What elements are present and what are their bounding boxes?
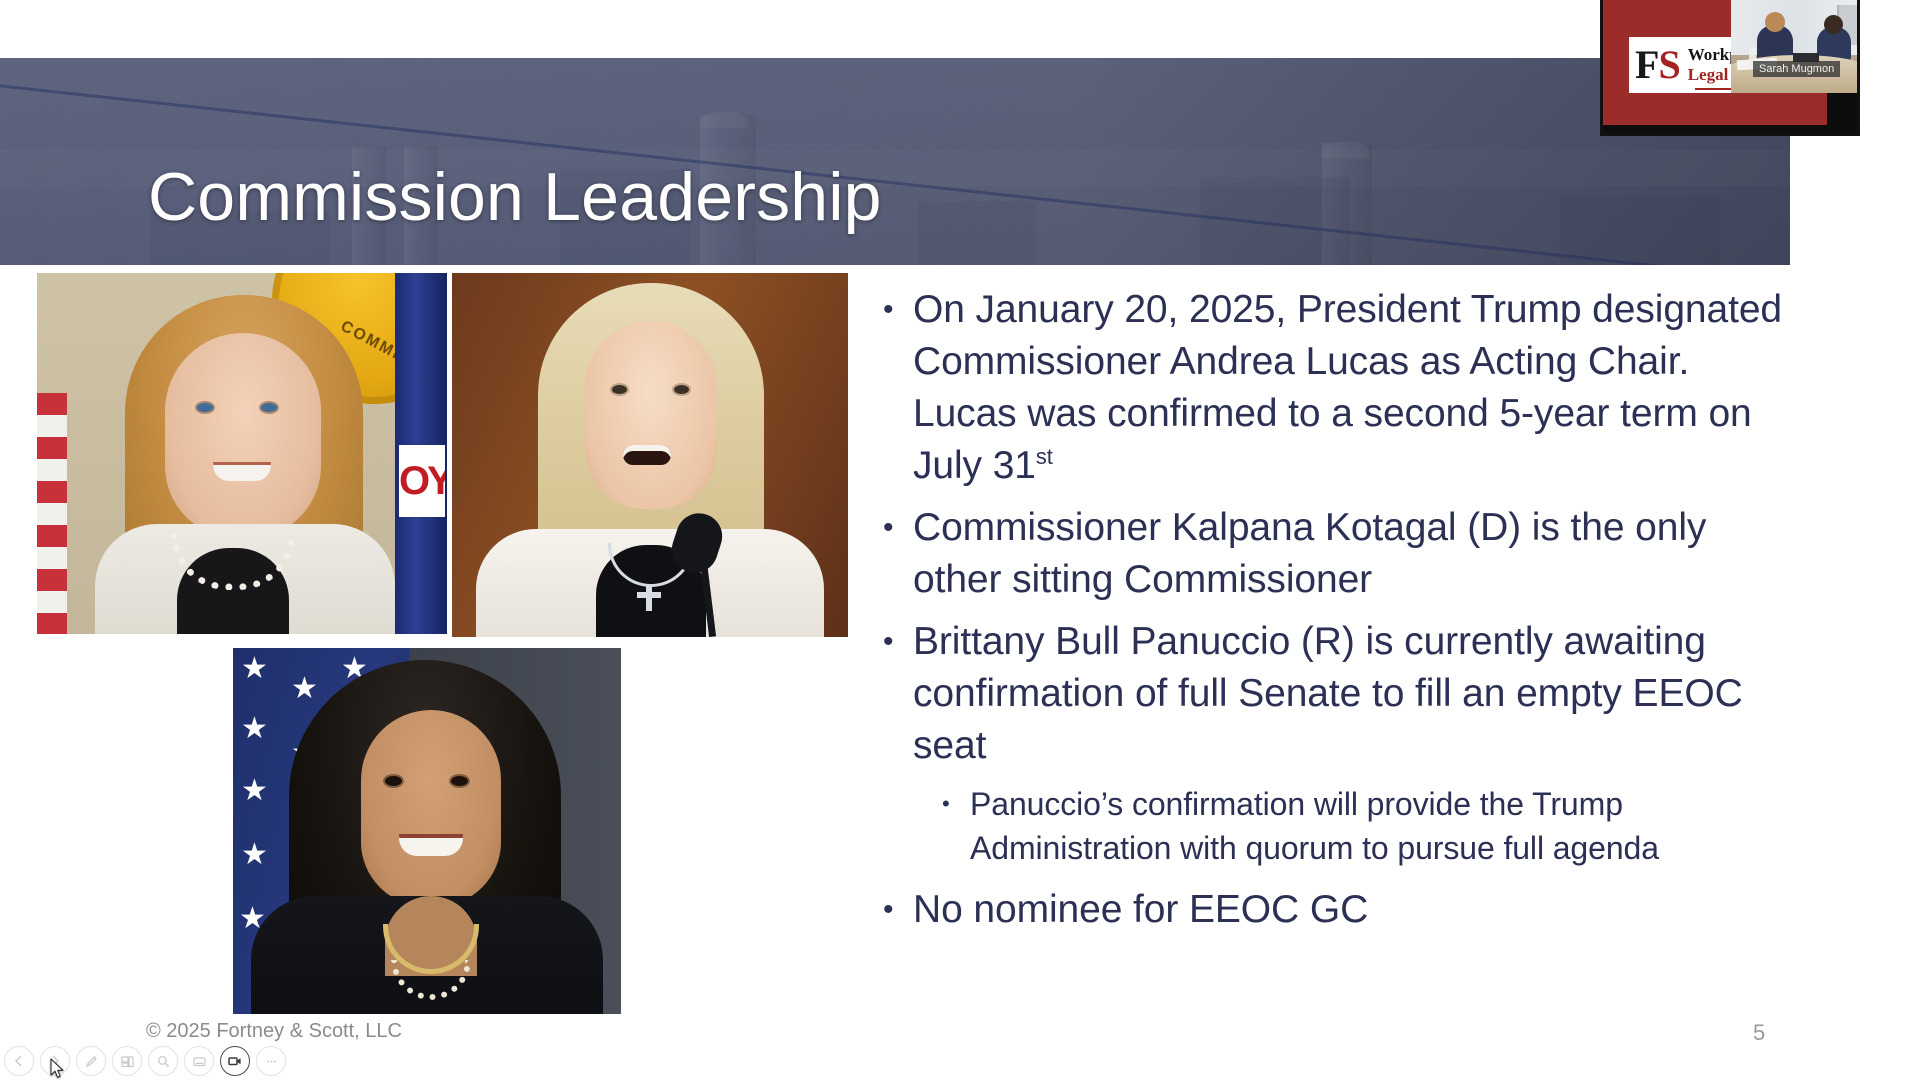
webcam-pip-overlay[interactable]: FS Workpla Legal Co Sarah Mugmon bbox=[1600, 0, 1860, 136]
pen-tool-button[interactable] bbox=[76, 1046, 106, 1076]
bullet-item: • No nominee for EEOC GC bbox=[880, 884, 1785, 936]
sub-bullet-marker: • bbox=[942, 782, 970, 826]
bullet-text: On January 20, 2025, President Trump des… bbox=[913, 284, 1785, 492]
next-slide-button[interactable] bbox=[40, 1046, 70, 1076]
bullet-marker: • bbox=[880, 284, 913, 336]
subtitles-button[interactable] bbox=[184, 1046, 214, 1076]
bullet-text: Brittany Bull Panuccio (R) is currently … bbox=[913, 616, 1785, 772]
slide-body-content: • On January 20, 2025, President Trump d… bbox=[880, 284, 1785, 946]
grid-icon bbox=[120, 1054, 135, 1069]
page-title: Commission Leadership bbox=[148, 158, 882, 236]
slide-grid-button[interactable] bbox=[112, 1046, 142, 1076]
bullet-item: • On January 20, 2025, President Trump d… bbox=[880, 284, 1785, 492]
slide-title-banner: Commission Leadership bbox=[0, 58, 1790, 265]
more-options-button[interactable] bbox=[256, 1046, 286, 1076]
chevron-right-icon bbox=[48, 1054, 62, 1068]
chevron-left-icon bbox=[12, 1054, 26, 1068]
participant-name-label: Sarah Mugmon bbox=[1753, 61, 1840, 77]
photo-brittany-panuccio bbox=[452, 273, 848, 637]
zoom-tool-button[interactable] bbox=[148, 1046, 178, 1076]
pen-icon bbox=[84, 1054, 99, 1069]
logo-monogram: FS bbox=[1635, 45, 1680, 85]
ellipsis-icon bbox=[264, 1054, 279, 1069]
bullet-text: No nominee for EEOC GC bbox=[913, 884, 1785, 936]
search-icon bbox=[156, 1054, 171, 1069]
sub-bullet-item: • Panuccio’s confirmation will provide t… bbox=[942, 782, 1785, 870]
photo-andrea-lucas: COMMIS OY bbox=[37, 273, 447, 634]
previous-slide-button[interactable] bbox=[4, 1046, 34, 1076]
camera-button[interactable] bbox=[220, 1046, 250, 1076]
flag-text: OY bbox=[399, 445, 445, 517]
logo-letter-s: S bbox=[1658, 42, 1679, 87]
bullet-marker: • bbox=[880, 616, 913, 668]
bullet-marker: • bbox=[880, 884, 913, 936]
photo-kalpana-kotagal: ★ ★ ★ ★ ★ ★ ★ ★ ★ ★ ★ bbox=[233, 648, 621, 1014]
page-number: 5 bbox=[1753, 1020, 1765, 1046]
video-feed[interactable] bbox=[1731, 0, 1860, 93]
presenter-toolbar bbox=[4, 1046, 286, 1076]
bullet-item: • Brittany Bull Panuccio (R) is currentl… bbox=[880, 616, 1785, 772]
logo-letter-f: F bbox=[1635, 42, 1658, 87]
caption-icon bbox=[192, 1054, 207, 1069]
bullet-marker: • bbox=[880, 502, 913, 554]
copyright-notice: © 2025 Fortney & Scott, LLC bbox=[146, 1020, 402, 1043]
bullet-item: • Commissioner Kalpana Kotagal (D) is th… bbox=[880, 502, 1785, 606]
video-camera-icon bbox=[227, 1053, 243, 1069]
ordinal-suffix: st bbox=[1036, 444, 1053, 469]
presentation-slide-view: Commission Leadership COMMIS OY bbox=[0, 0, 1920, 1080]
bullet-text: Commissioner Kalpana Kotagal (D) is the … bbox=[913, 502, 1785, 606]
sub-bullet-text: Panuccio’s confirmation will provide the… bbox=[970, 782, 1785, 870]
